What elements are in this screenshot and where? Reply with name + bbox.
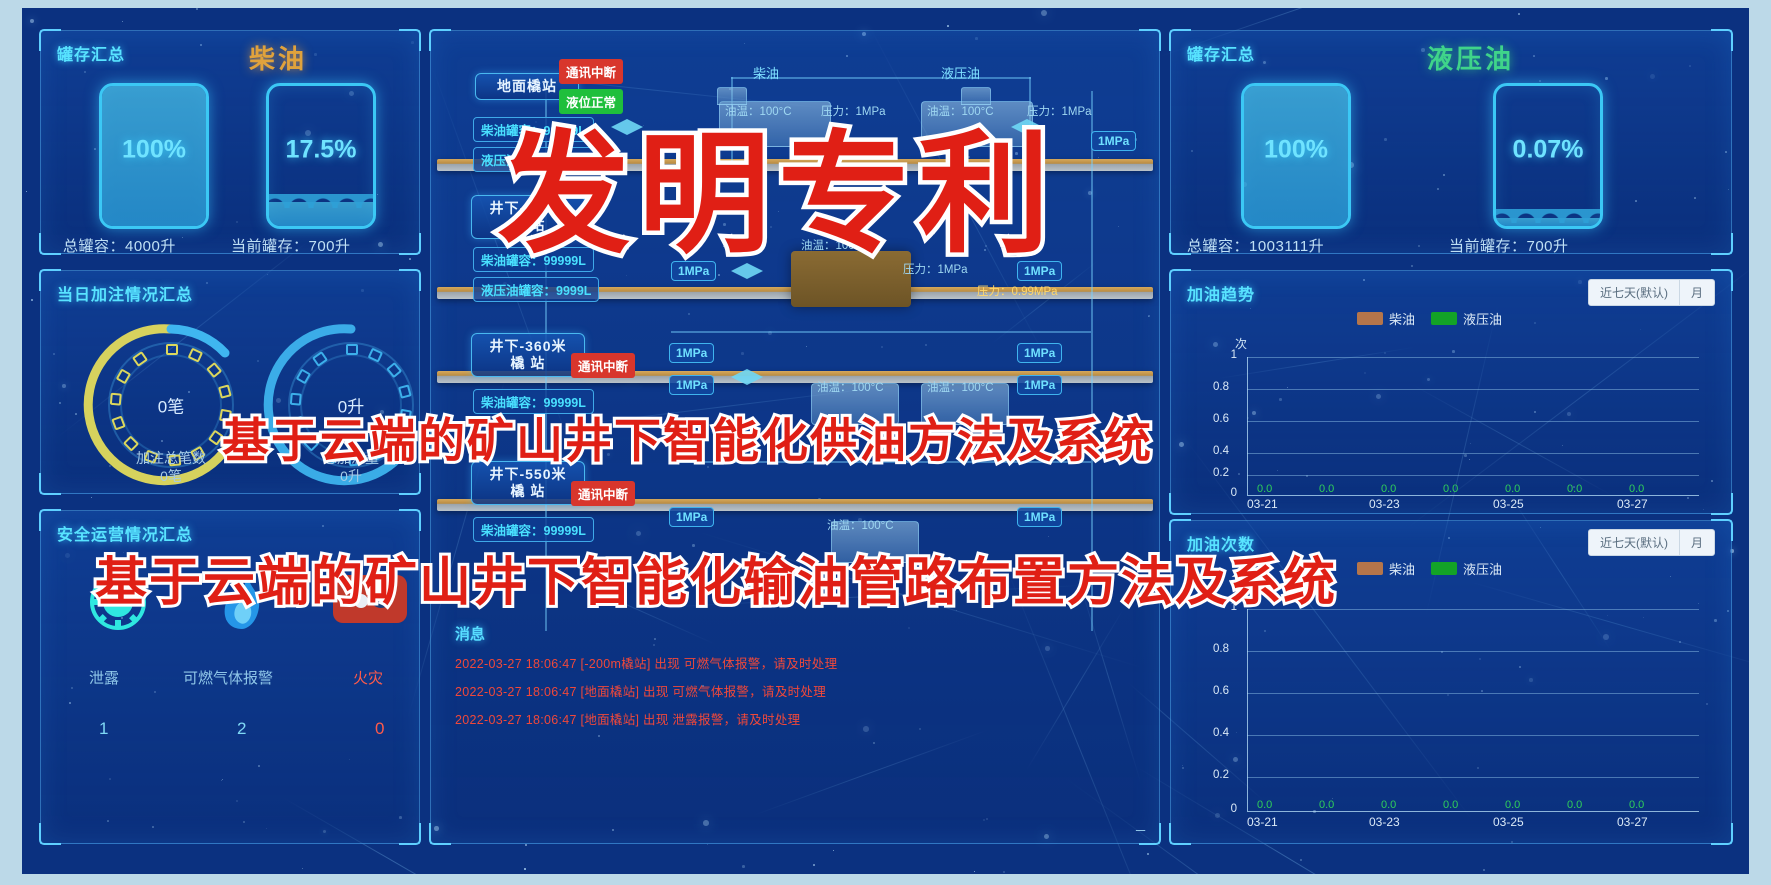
ytick-count-6: 0 [1211, 803, 1237, 815]
screenshot-root: 罐存汇总 柴油 100% 总罐容：4000升 17.5% 当前罐存：700升 当… [0, 0, 1771, 885]
xtick-trend-3: 03-25 [1493, 497, 1524, 511]
point-label-count-1: 0.0 [1257, 799, 1272, 811]
pressure-tag-7: 1MPa [1017, 375, 1062, 395]
tank-current-diesel-caption: 当前罐存：700升 [231, 235, 351, 256]
message-line-3: 2022-03-27 18:06:47 [地面橇站] 出现 泄露报警，请及时处理 [455, 709, 800, 728]
legend-item-hyd-trend: 液压油 [1431, 309, 1502, 328]
pressure-tag-4: 1MPa [669, 343, 714, 363]
watermark-patent-title: 发明专利 [498, 88, 1058, 279]
safety-count-fire: 0 [375, 719, 384, 739]
station-tag-surface-comm: 通讯中断 [559, 59, 623, 84]
watermark-patent-line2: 基于云端的矿山井下智能化输油管路布置方法及系统 [95, 540, 1337, 615]
ytick-trend-5: 0.2 [1203, 467, 1229, 479]
point-label-trend-2: 0.0 [1319, 483, 1334, 495]
station-550m-line2: 橇 站 [511, 483, 546, 499]
minimize-icon[interactable]: _ [1136, 815, 1145, 833]
tank-current-hyd-value: 0.07% [1496, 136, 1600, 165]
gauge-refuel-count-label-line1: 加注总笔数 [136, 450, 206, 466]
ytick-trend-3: 0.6 [1203, 413, 1229, 425]
station-360m-line1: 井下-360米 [489, 338, 566, 354]
tank-total-diesel: 100% [99, 83, 209, 229]
tank-total-diesel-value: 100% [102, 136, 206, 165]
gridline-count-3 [1247, 693, 1699, 694]
gridline-count-5 [1247, 777, 1699, 778]
panel-diesel-stock: 罐存汇总 柴油 100% 总罐容：4000升 17.5% 当前罐存：700升 [40, 30, 420, 254]
point-label-count-5: 0.0 [1505, 799, 1520, 811]
point-label-trend-6: 0.0 [1567, 483, 1582, 495]
station-box-360m[interactable]: 井下-360米 橇 站 [471, 333, 585, 377]
point-label-trend-7: 0.0 [1629, 483, 1644, 495]
chart-legend-trend: 柴油 液压油 [1357, 309, 1502, 328]
gridline-trend-4 [1247, 453, 1699, 454]
safety-count-leak: 1 [99, 719, 108, 739]
pressure-tag-1: 1MPa [1091, 131, 1136, 151]
range-selector-trend[interactable]: 近七天(默认) 月 [1588, 279, 1715, 306]
range-selector-count[interactable]: 近七天(默认) 月 [1588, 529, 1715, 556]
tank-total-hyd: 100% [1241, 83, 1351, 229]
xtick-count-4: 03-27 [1617, 815, 1648, 829]
safety-label-fire: 火灾 [353, 667, 383, 688]
readout-press-4: 压力：0.99MPa [977, 283, 1058, 299]
flow-label-diesel: 柴油 [753, 63, 779, 82]
point-label-count-6: 0.0 [1567, 799, 1582, 811]
legend-label-diesel-trend: 柴油 [1389, 312, 1415, 327]
safety-label-gas: 可燃气体报警 [183, 667, 273, 688]
station-tag-360m-comm: 通讯中断 [571, 353, 635, 378]
pressure-tag-5: 1MPa [1017, 343, 1062, 363]
tank-current-diesel-value: 17.5% [269, 136, 373, 165]
xtick-trend-1: 03-21 [1247, 497, 1278, 511]
legend-item-hyd-count: 液压油 [1431, 559, 1502, 578]
pipe-horizontal-mid [671, 331, 1091, 333]
xaxis-trend [1247, 495, 1699, 496]
pressure-tag-6: 1MPa [669, 375, 714, 395]
safety-count-gas: 2 [237, 719, 246, 739]
point-label-count-2: 0.0 [1319, 799, 1334, 811]
ytick-count-5: 0.2 [1203, 769, 1229, 781]
point-label-count-4: 0.0 [1443, 799, 1458, 811]
range-btn-month-count[interactable]: 月 [1680, 530, 1714, 555]
gridline-trend-1 [1247, 357, 1699, 358]
gridline-trend-3 [1247, 421, 1699, 422]
yaxis-count [1247, 609, 1248, 811]
station-360m-line2: 橇 站 [511, 355, 546, 371]
point-label-trend-5: 0.0 [1505, 483, 1520, 495]
xtick-trend-2: 03-23 [1369, 497, 1400, 511]
xtick-count-1: 03-21 [1247, 815, 1278, 829]
range-btn-week-count[interactable]: 近七天(默认) [1589, 530, 1680, 555]
xtick-trend-4: 03-27 [1617, 497, 1648, 511]
ytick-count-4: 0.4 [1203, 727, 1229, 739]
tank-current-hyd: 0.07% [1493, 83, 1603, 229]
legend-label-hyd-count: 液压油 [1463, 562, 1502, 577]
chart-legend-count: 柴油 液压油 [1357, 559, 1502, 578]
ytick-trend-4: 0.4 [1203, 445, 1229, 457]
safety-label-leak: 泄露 [89, 667, 119, 688]
ytick-trend-6: 0 [1211, 487, 1237, 499]
legend-label-hyd-trend: 液压油 [1463, 312, 1502, 327]
watermark-patent-line1: 基于云端的矿山井下智能化供油方法及系统 [222, 402, 1153, 471]
station-tag-550m-comm: 通讯中断 [571, 481, 635, 506]
panel-title-hyd-stock: 罐存汇总 [1187, 41, 1255, 65]
chart-title-trend: 加油趋势 [1187, 281, 1255, 305]
panel-title-daily-refuel: 当日加注情况汇总 [57, 281, 193, 305]
panel-refuel-trend-chart: 加油趋势 近七天(默认) 月 柴油 液压油 次 1 0.8 0.6 0.4 0.… [1170, 270, 1732, 514]
product-label-hyd: 液压油 [1427, 39, 1514, 76]
gridline-trend-2 [1247, 389, 1699, 390]
panel-title-diesel-stock: 罐存汇总 [57, 41, 125, 65]
panel-hydraulic-stock: 罐存汇总 液压油 100% 总罐容：1003111升 0.07% 当前罐存：70… [1170, 30, 1732, 254]
ytick-trend-1: 1 [1211, 349, 1237, 361]
station-volume-200m-hyd: 液压油罐容：9999L [473, 277, 599, 302]
message-line-1: 2022-03-27 18:06:47 [-200m橇站] 出现 可燃气体报警，… [455, 653, 837, 672]
yaxis-trend [1247, 357, 1248, 495]
ytick-trend-2: 0.8 [1203, 381, 1229, 393]
point-label-trend-4: 0.0 [1443, 483, 1458, 495]
tank-total-hyd-value: 100% [1244, 136, 1348, 165]
readout-temp-4: 油温：100°C [817, 379, 884, 395]
range-btn-week-trend[interactable]: 近七天(默认) [1589, 280, 1680, 305]
readout-temp-6: 油温：100°C [827, 517, 894, 533]
pressure-tag-9: 1MPa [1017, 507, 1062, 527]
pressure-tag-8: 1MPa [669, 507, 714, 527]
messages-title: 消息 [455, 623, 485, 644]
gridline-trend-5 [1247, 475, 1699, 476]
flow-label-hyd: 液压油 [941, 63, 980, 82]
station-volume-550m-diesel: 柴油罐容：99999L [473, 517, 594, 542]
xtick-count-2: 03-23 [1369, 815, 1400, 829]
readout-temp-5: 油温：100°C [927, 379, 994, 395]
legend-label-diesel-count: 柴油 [1389, 562, 1415, 577]
range-btn-month-trend[interactable]: 月 [1680, 280, 1714, 305]
product-label-diesel: 柴油 [249, 39, 307, 76]
gridline-count-2 [1247, 651, 1699, 652]
point-label-trend-3: 0.0 [1381, 483, 1396, 495]
tank-current-hyd-caption: 当前罐存：700升 [1449, 235, 1569, 256]
xaxis-count [1247, 811, 1699, 812]
ytick-count-2: 0.8 [1203, 643, 1229, 655]
legend-item-diesel-trend: 柴油 [1357, 309, 1415, 328]
xtick-count-3: 03-25 [1493, 815, 1524, 829]
ytick-count-3: 0.6 [1203, 685, 1229, 697]
legend-item-diesel-count: 柴油 [1357, 559, 1415, 578]
point-label-count-3: 0.0 [1381, 799, 1396, 811]
message-line-2: 2022-03-27 18:06:47 [地面橇站] 出现 可燃气体报警，请及时… [455, 681, 826, 700]
point-label-count-7: 0.0 [1629, 799, 1644, 811]
gridline-count-4 [1247, 735, 1699, 736]
tank-current-diesel: 17.5% [266, 83, 376, 229]
point-label-trend-1: 0.0 [1257, 483, 1272, 495]
tank-total-diesel-caption: 总罐容：4000升 [63, 235, 176, 256]
gauge-refuel-count-label-line2: 0笔 [160, 468, 182, 484]
tank-total-hyd-caption: 总罐容：1003111升 [1187, 235, 1324, 256]
